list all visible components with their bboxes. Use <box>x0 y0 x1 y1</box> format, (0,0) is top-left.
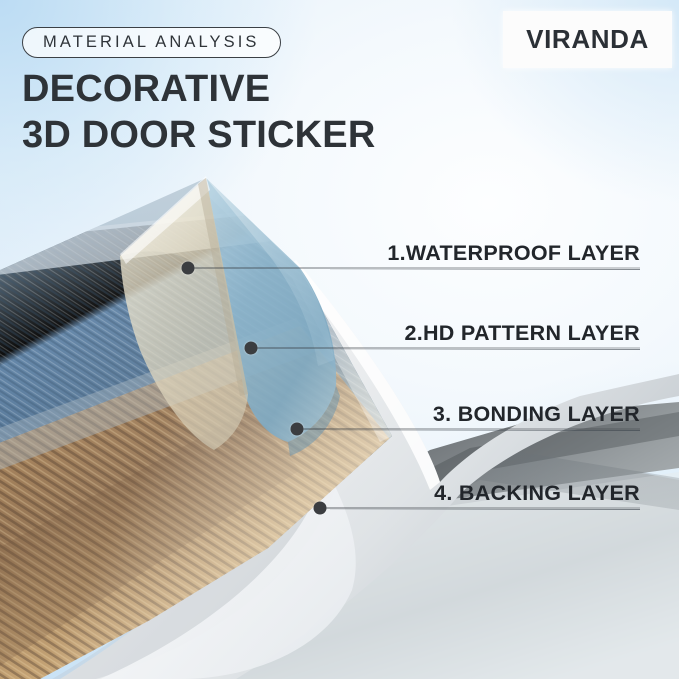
callout-backing: 4. BACKING LAYER <box>330 481 640 510</box>
page-title: DECORATIVE 3D DOOR STICKER <box>22 66 462 158</box>
callout-underline-hd-pattern <box>330 349 640 350</box>
material-analysis-badge: MATERIAL ANALYSIS <box>22 27 281 58</box>
callout-label-backing: 4. BACKING LAYER <box>330 481 640 505</box>
callout-hd-pattern: 2.HD PATTERN LAYER <box>330 321 640 350</box>
title-line-2: 3D DOOR STICKER <box>22 112 462 158</box>
title-line-1: DECORATIVE <box>22 66 462 112</box>
callout-label-hd-pattern: 2.HD PATTERN LAYER <box>330 321 640 345</box>
brand-name: VIRANDA <box>526 24 649 55</box>
callout-label-waterproof: 1.WATERPROOF LAYER <box>330 241 640 265</box>
callout-bonding: 3. BONDING LAYER <box>330 402 640 431</box>
badge-label: MATERIAL ANALYSIS <box>43 33 260 52</box>
brand-logo: VIRANDA <box>503 11 672 68</box>
callout-waterproof: 1.WATERPROOF LAYER <box>330 241 640 270</box>
callout-label-bonding: 3. BONDING LAYER <box>330 402 640 426</box>
callout-underline-backing <box>330 509 640 510</box>
callout-underline-bonding <box>330 430 640 431</box>
material-analysis-infographic: MATERIAL ANALYSIS DECORATIVE 3D DOOR STI… <box>0 0 679 679</box>
callout-underline-waterproof <box>330 269 640 270</box>
